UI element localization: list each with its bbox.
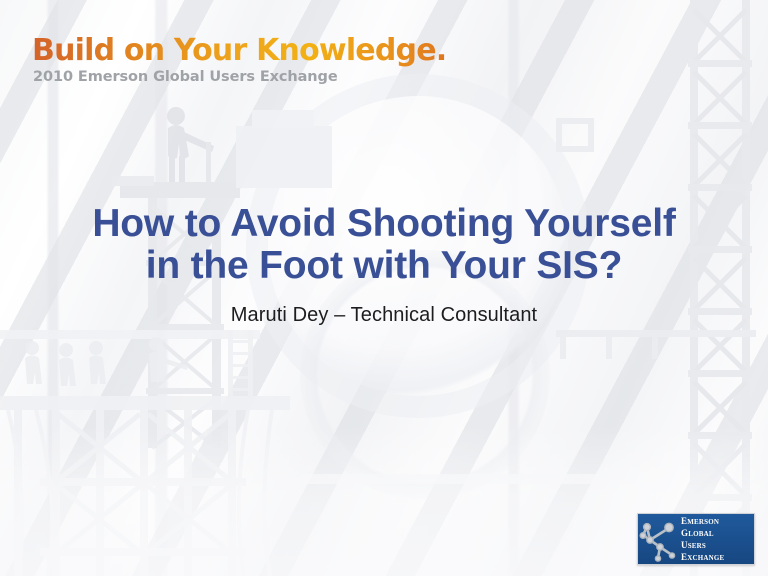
page-title: How to Avoid Shooting Yourself in the Fo… [0, 204, 768, 285]
presenter-byline: Maruti Dey – Technical Consultant [0, 304, 768, 327]
badge-line-exchange: Exchange [681, 551, 754, 563]
badge-line-emerson: Emerson [681, 515, 754, 527]
badge-wordmark: Emerson Global Users Exchange [680, 515, 754, 564]
brand-lockup: Build on Your Knowledge. 2010 Emerson Gl… [32, 34, 452, 85]
badge-line-users: Users [681, 539, 754, 551]
page-title-line-2: in the Foot with Your SIS? [0, 246, 768, 285]
network-nodes-icon [638, 516, 680, 562]
brand-headline: Build on Your Knowledge. [32, 34, 452, 68]
emerson-global-users-exchange-badge: Emerson Global Users Exchange [637, 513, 755, 565]
brand-subline: 2010 Emerson Global Users Exchange [33, 69, 452, 85]
page-title-line-1: How to Avoid Shooting Yourself [0, 204, 768, 243]
badge-line-global: Global [681, 527, 754, 539]
title-block: How to Avoid Shooting Yourself in the Fo… [0, 204, 768, 327]
presentation-slide: Build on Your Knowledge. 2010 Emerson Gl… [0, 0, 768, 576]
